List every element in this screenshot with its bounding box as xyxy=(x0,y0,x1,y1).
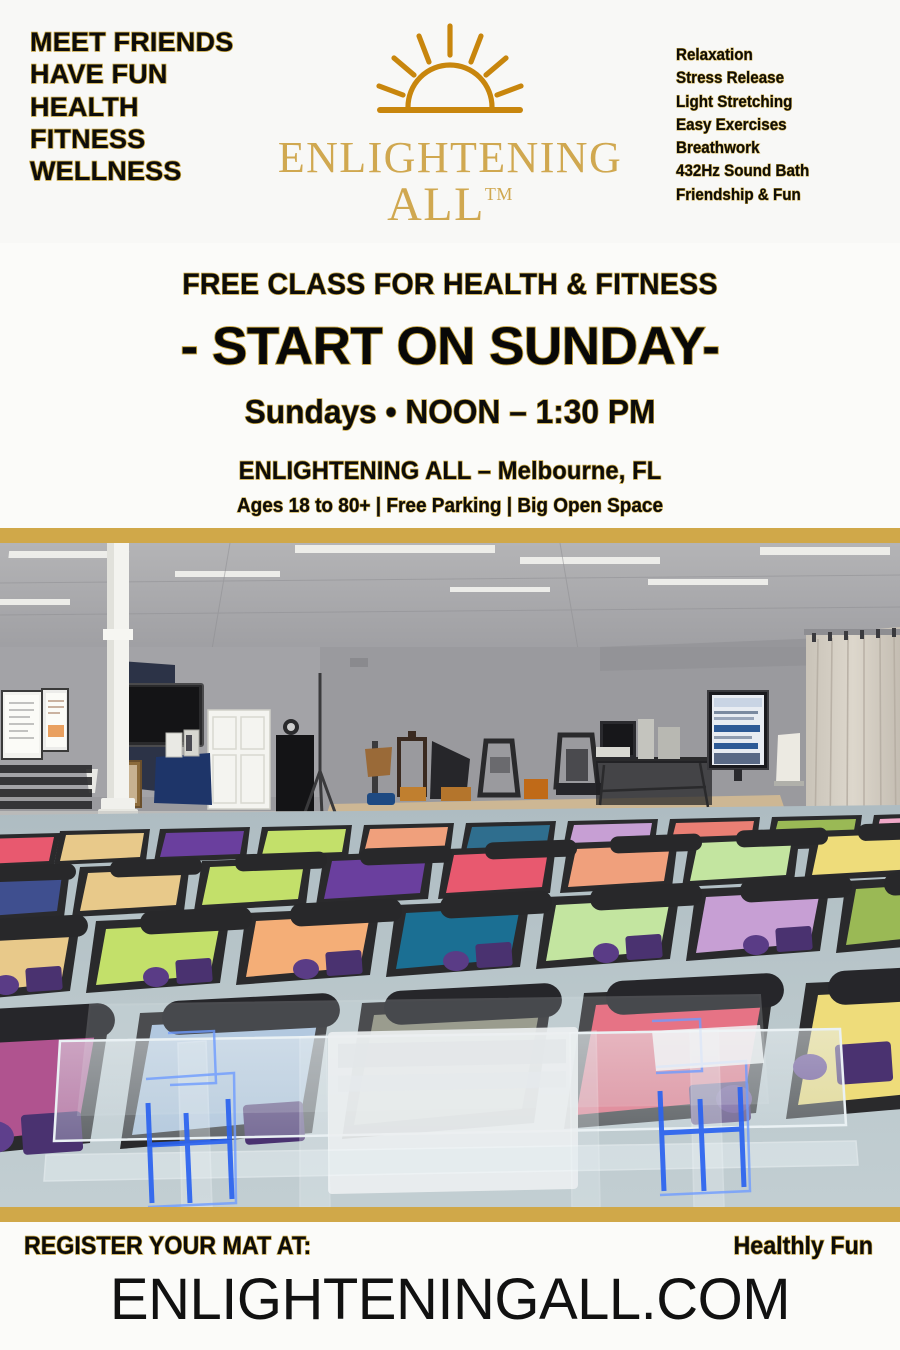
flyer-poster: MEET FRIENDS HAVE FUN HEALTH FITNESS WEL… xyxy=(0,0,900,1350)
sunrise-icon xyxy=(365,22,535,132)
tagline-label: Healthly Fun xyxy=(733,1232,873,1261)
schedule-time: Sundays • NOON – 1:30 PM xyxy=(18,393,882,431)
activity-item: Breathwork xyxy=(676,137,809,159)
logo-name-line2: ALL xyxy=(387,181,485,229)
activity-item: Easy Exercises xyxy=(676,114,809,136)
benefit-item: FITNESS xyxy=(30,124,233,155)
activity-item: Stress Release xyxy=(676,67,809,89)
studio-photo xyxy=(0,543,900,1207)
footer-band: REGISTER YOUR MAT AT: Healthly Fun ENLIG… xyxy=(0,1222,900,1350)
gold-divider-bottom xyxy=(0,1207,900,1222)
activity-item: Relaxation xyxy=(676,44,809,66)
activities-right-list: Relaxation Stress Release Light Stretchi… xyxy=(676,44,821,206)
location-details: Ages 18 to 80+ | Free Parking | Big Open… xyxy=(23,495,878,518)
website-url[interactable]: ENLIGHTENINGALL.COM xyxy=(0,1266,900,1333)
register-label: REGISTER YOUR MAT AT: xyxy=(24,1232,311,1261)
benefit-item: HEALTH xyxy=(30,92,233,123)
benefit-item: WELLNESS xyxy=(30,156,233,187)
gold-divider-top xyxy=(0,528,900,543)
benefit-item: HAVE FUN xyxy=(30,59,233,90)
logo-name-line2-row: ALL TM xyxy=(387,181,513,229)
benefits-left-list: MEET FRIENDS HAVE FUN HEALTH FITNESS WEL… xyxy=(30,27,233,188)
brand-logo: ENLIGHTENING ALL TM xyxy=(272,22,628,229)
announcement-block: FREE CLASS FOR HEALTH & FITNESS - START … xyxy=(0,243,900,528)
trademark-mark: TM xyxy=(485,185,513,203)
activity-item: Friendship & Fun xyxy=(676,184,809,206)
location-name: ENLIGHTENING ALL – Melbourne, FL xyxy=(23,457,878,486)
logo-name-line1: ENLIGHTENING xyxy=(278,136,622,179)
activity-item: 432Hz Sound Bath xyxy=(676,160,809,182)
benefit-item: MEET FRIENDS xyxy=(30,27,233,58)
activity-item: Light Stretching xyxy=(676,91,809,113)
header-band: MEET FRIENDS HAVE FUN HEALTH FITNESS WEL… xyxy=(0,0,900,243)
start-on-sunday-headline: - START ON SUNDAY- xyxy=(0,316,900,377)
free-class-headline: FREE CLASS FOR HEALTH & FITNESS xyxy=(23,268,878,302)
